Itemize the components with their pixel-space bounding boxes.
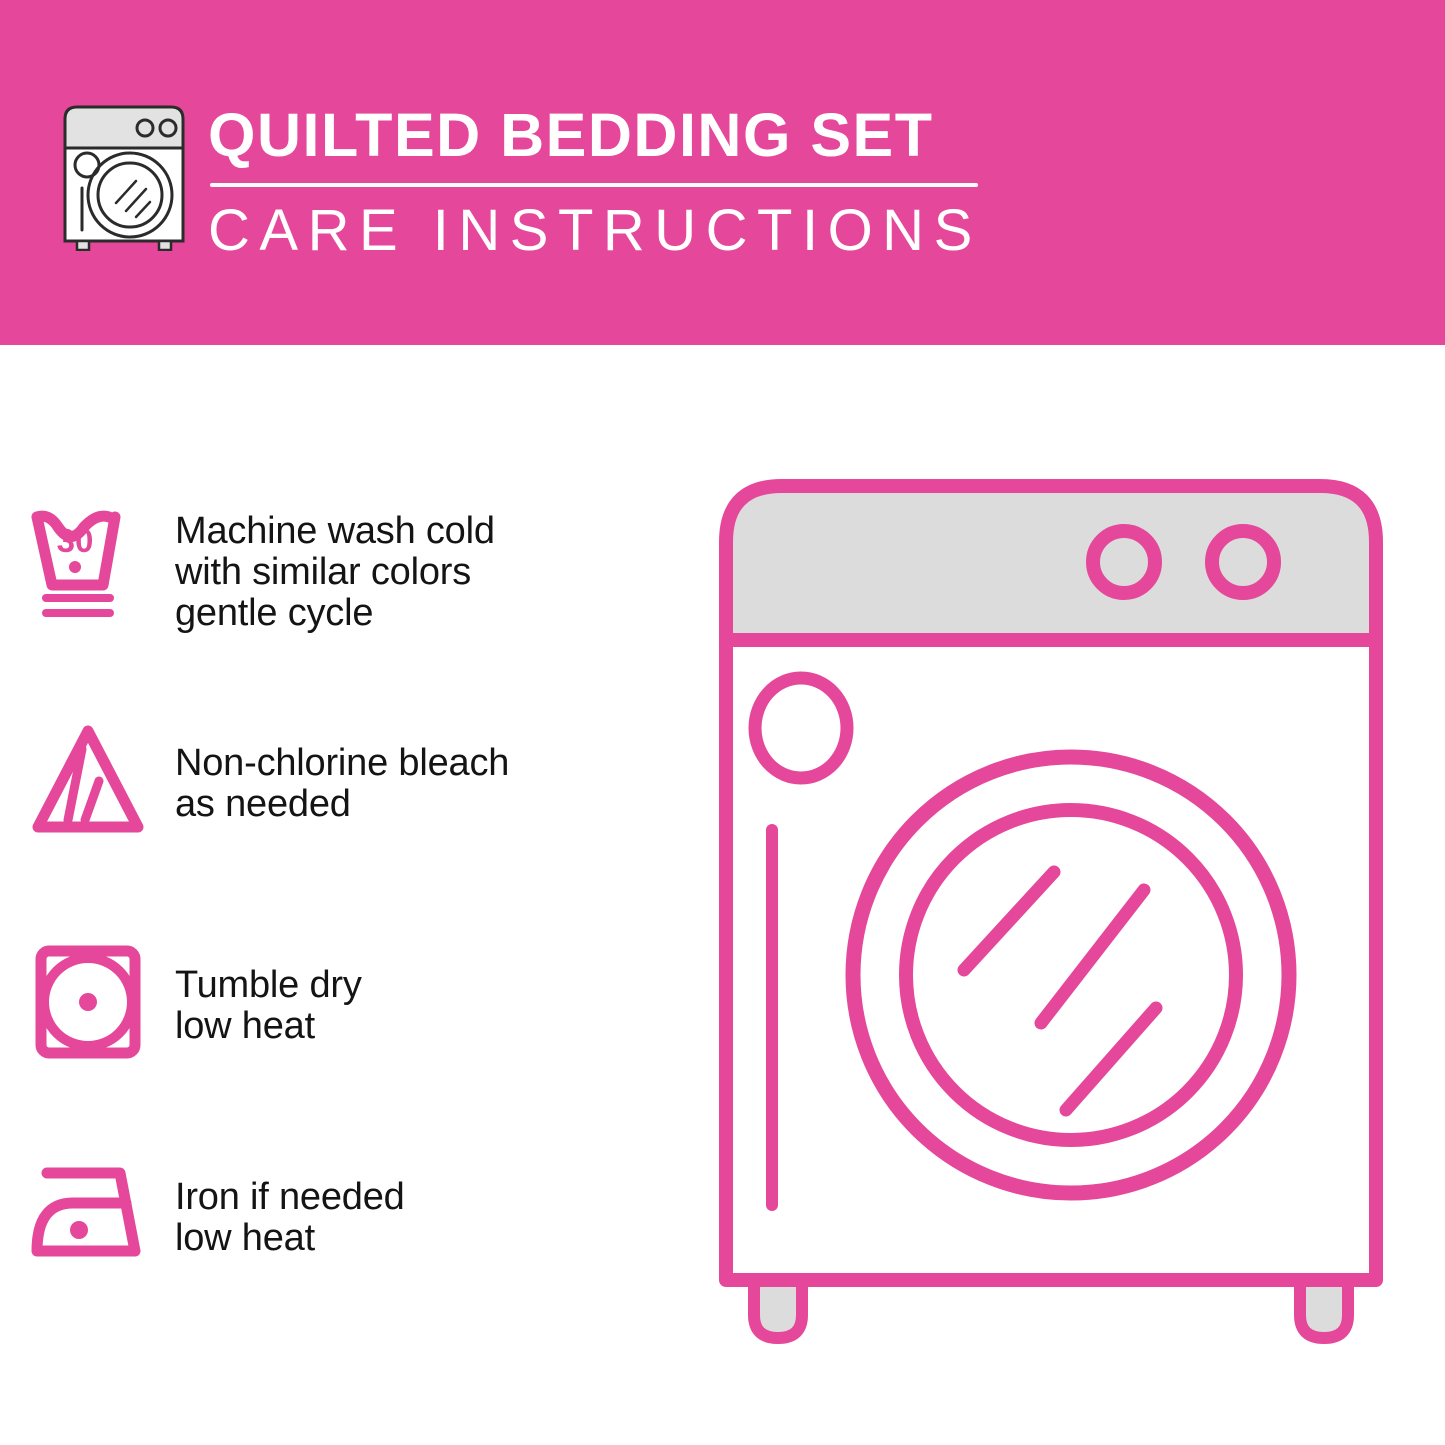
- knob-right: [1212, 531, 1274, 593]
- washing-machine-icon: [58, 103, 190, 251]
- care-text-iron: Iron if needed low heat: [175, 1145, 700, 1259]
- care-row-tumble-dry: Tumble dry low heat: [0, 935, 700, 1065]
- wash-tub-30-icon: 30: [0, 495, 175, 625]
- care-text-tumble-dry: Tumble dry low heat: [175, 935, 700, 1047]
- page-title: QUILTED BEDDING SET: [208, 100, 998, 170]
- care-row-bleach: Non-chlorine bleach as needed: [0, 715, 700, 845]
- wash-temperature-label: 30: [56, 522, 93, 559]
- tumble-dry-icon: [0, 935, 175, 1065]
- washing-machine-illustration: [716, 470, 1416, 1370]
- header-divider: [210, 183, 978, 187]
- header-banner: QUILTED BEDDING SET CARE INSTRUCTIONS: [0, 0, 1445, 345]
- care-row-machine-wash: 30 Machine wash cold with similar colors…: [0, 495, 700, 634]
- care-instructions-list: 30 Machine wash cold with similar colors…: [0, 345, 700, 1445]
- bleach-triangle-icon: [0, 715, 175, 845]
- care-text-bleach: Non-chlorine bleach as needed: [175, 715, 700, 825]
- detergent-drawer-knob: [755, 678, 847, 778]
- iron-icon: [0, 1145, 175, 1275]
- header-text-block: QUILTED BEDDING SET CARE INSTRUCTIONS: [208, 100, 998, 264]
- care-row-iron: Iron if needed low heat: [0, 1145, 700, 1275]
- page-subtitle: CARE INSTRUCTIONS: [208, 198, 998, 264]
- knob-left: [1093, 531, 1155, 593]
- care-text-machine-wash: Machine wash cold with similar colors ge…: [175, 495, 700, 634]
